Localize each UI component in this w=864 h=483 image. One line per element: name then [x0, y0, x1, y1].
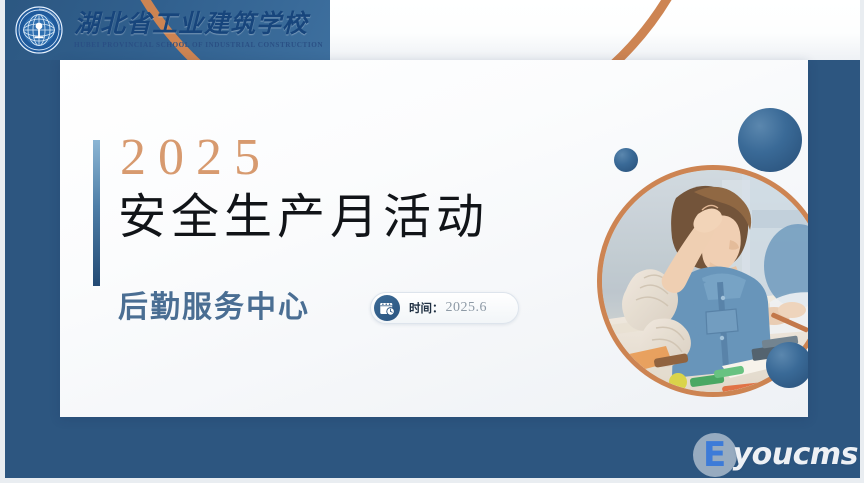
watermark: E youcms — [693, 433, 858, 477]
watermark-logo-badge: E — [693, 433, 737, 477]
watermark-text: youcms — [733, 440, 858, 470]
school-globe-emblem-icon — [14, 5, 64, 55]
date-badge-label: 时间： — [409, 300, 444, 316]
watermark-letter: E — [703, 438, 726, 472]
title-accent-bar — [93, 140, 100, 286]
page-title: 安全生产月活动 — [118, 190, 588, 245]
date-badge: 时间： 2025.6 — [370, 292, 519, 324]
presentation-slide: 湖北省工业建筑学校 HUBEI PROVINCIAL SCHOOL OF IND… — [0, 0, 864, 483]
decorative-dot-medium-icon — [766, 342, 808, 388]
photo-group — [572, 100, 808, 400]
school-brand: 湖北省工业建筑学校 HUBEI PROVINCIAL SCHOOL OF IND… — [14, 4, 323, 56]
date-badge-value: 2025.6 — [446, 300, 488, 316]
title-block: 2025 安全生产月活动 — [118, 132, 588, 245]
school-name-cn: 湖北省工业建筑学校 — [74, 10, 323, 38]
calendar-clock-icon — [374, 295, 400, 321]
decorative-dot-small-icon — [614, 148, 638, 172]
year-label: 2025 — [120, 132, 588, 184]
content-card: 2025 安全生产月活动 后勤服务中心 — [60, 60, 808, 417]
school-brand-text: 湖北省工业建筑学校 HUBEI PROVINCIAL SCHOOL OF IND… — [74, 10, 323, 49]
subtitle-row: 后勤服务中心 时间： — [118, 292, 519, 324]
decorative-dot-large-icon — [738, 108, 802, 172]
school-name-en: HUBEI PROVINCIAL SCHOOL OF INDUSTRIAL CO… — [74, 41, 323, 50]
department-label: 后勤服务中心 — [118, 293, 310, 323]
